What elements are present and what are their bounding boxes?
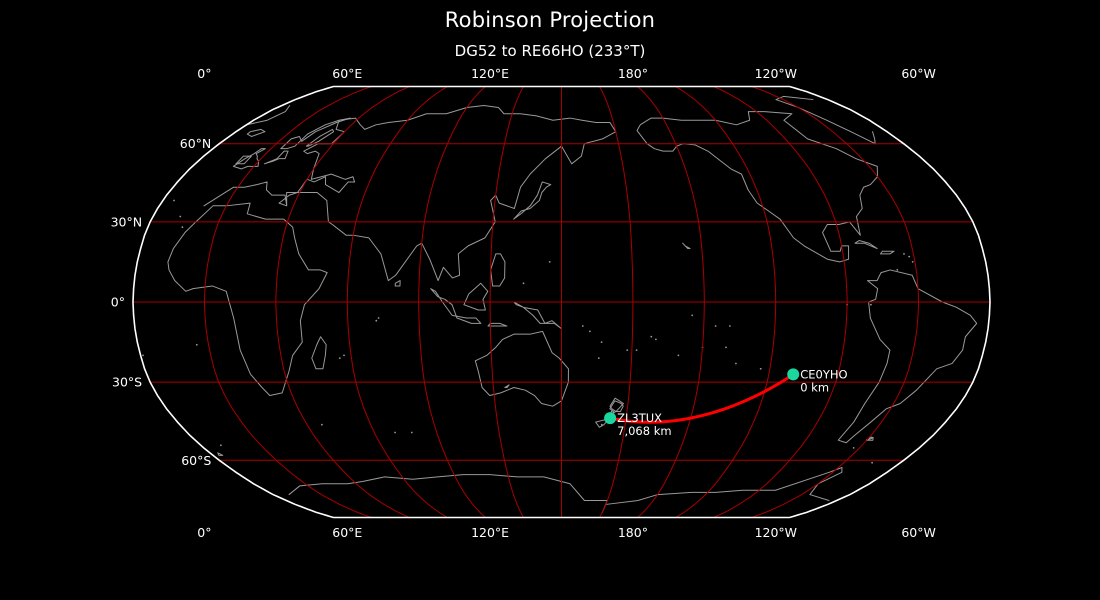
lat-tick-0: 60°N bbox=[180, 136, 212, 151]
coastlines-layer bbox=[142, 96, 977, 512]
lon-tick-top-3: 120°W bbox=[755, 66, 797, 81]
station-markers[interactable]: CE0YHO0 kmZL3TUX7,068 km bbox=[604, 367, 847, 438]
marker-distance: 7,068 km bbox=[617, 424, 671, 438]
lon-tick-top-2: 180° bbox=[618, 66, 648, 81]
station-marker-zl3tux[interactable]: ZL3TUX7,068 km bbox=[604, 411, 671, 438]
map-figure: Robinson Projection DG52 to RE66HO (233°… bbox=[0, 0, 1100, 600]
lon-tick-top-1: 120°E bbox=[471, 66, 509, 81]
station-marker-ce0yho[interactable]: CE0YHO0 km bbox=[787, 367, 847, 394]
lon-tick-top-5: 0° bbox=[197, 66, 211, 81]
lon-tick-bottom-1: 120°E bbox=[471, 525, 509, 540]
lon-tick-bottom-0: 60°E bbox=[332, 525, 362, 540]
lon-tick-bottom-3: 120°W bbox=[755, 525, 797, 540]
lat-tick-1: 30°N bbox=[111, 214, 143, 229]
lon-tick-top-4: 60°W bbox=[901, 66, 936, 81]
axis-labels: 60°E60°E120°E120°E180°180°120°W120°W60°W… bbox=[111, 66, 936, 540]
lat-tick-2: 0° bbox=[111, 295, 125, 310]
lat-tick-4: 60°S bbox=[181, 453, 211, 468]
lat-tick-3: 30°S bbox=[112, 375, 142, 390]
lon-tick-bottom-4: 60°W bbox=[901, 525, 936, 540]
world-map[interactable]: CE0YHO0 kmZL3TUX7,068 km 60°E60°E120°E12… bbox=[0, 0, 1100, 600]
marker-dot[interactable] bbox=[787, 368, 799, 380]
lon-tick-bottom-5: 0° bbox=[197, 525, 211, 540]
marker-distance: 0 km bbox=[800, 380, 829, 394]
marker-callsign: ZL3TUX bbox=[617, 411, 662, 425]
lon-tick-bottom-2: 180° bbox=[618, 525, 648, 540]
marker-dot[interactable] bbox=[604, 412, 616, 424]
lon-tick-top-0: 60°E bbox=[332, 66, 362, 81]
marker-callsign: CE0YHO bbox=[800, 367, 847, 381]
